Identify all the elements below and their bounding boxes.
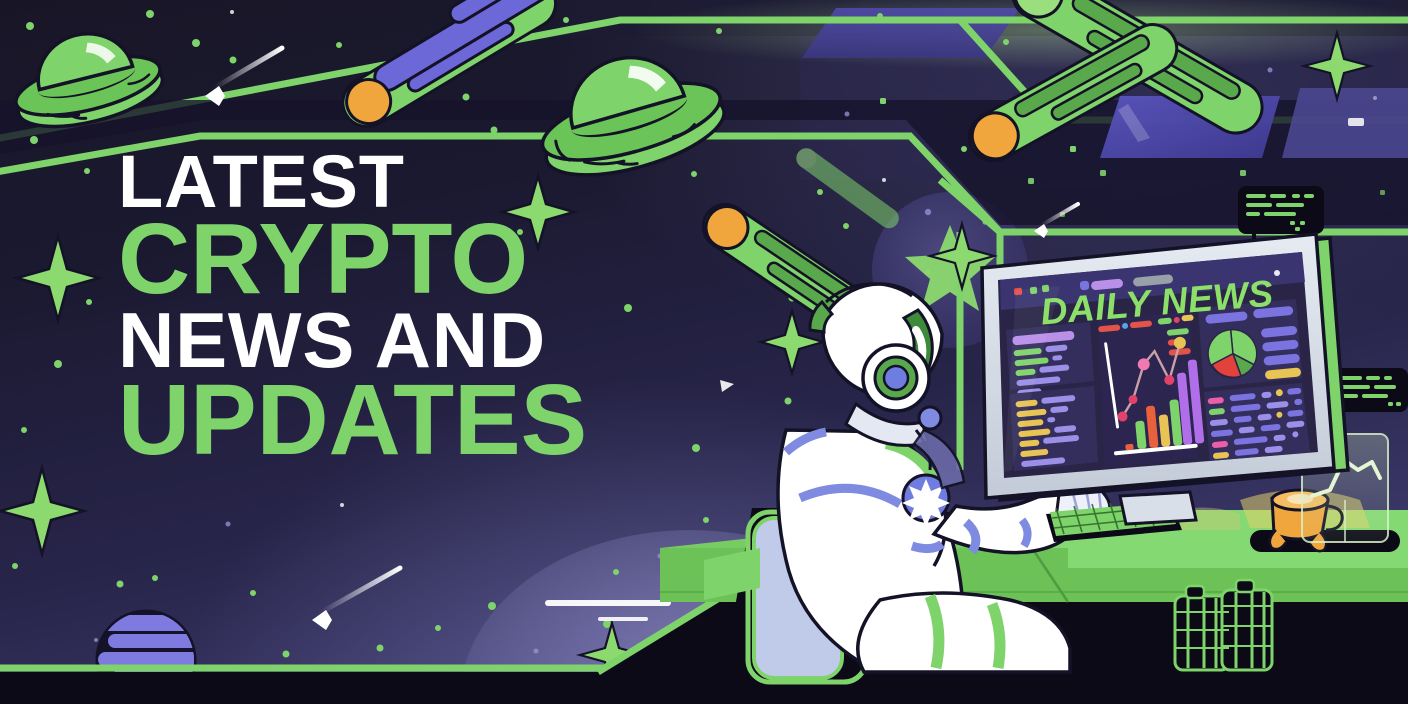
monitor-stand	[1120, 492, 1196, 524]
headline-line-4: UPDATES	[118, 372, 587, 468]
allocation-pie-panel	[1198, 299, 1302, 388]
market-chart-panel	[1098, 311, 1206, 468]
headline-block: LATEST CRYPTO NEWS AND UPDATES	[118, 146, 587, 468]
headline-line-2: CRYPTO	[118, 211, 587, 307]
ticker-table-panel	[1204, 383, 1310, 462]
camera-dot	[1274, 270, 1280, 276]
banner-root: LATEST CRYPTO NEWS AND UPDATES	[0, 0, 1408, 704]
